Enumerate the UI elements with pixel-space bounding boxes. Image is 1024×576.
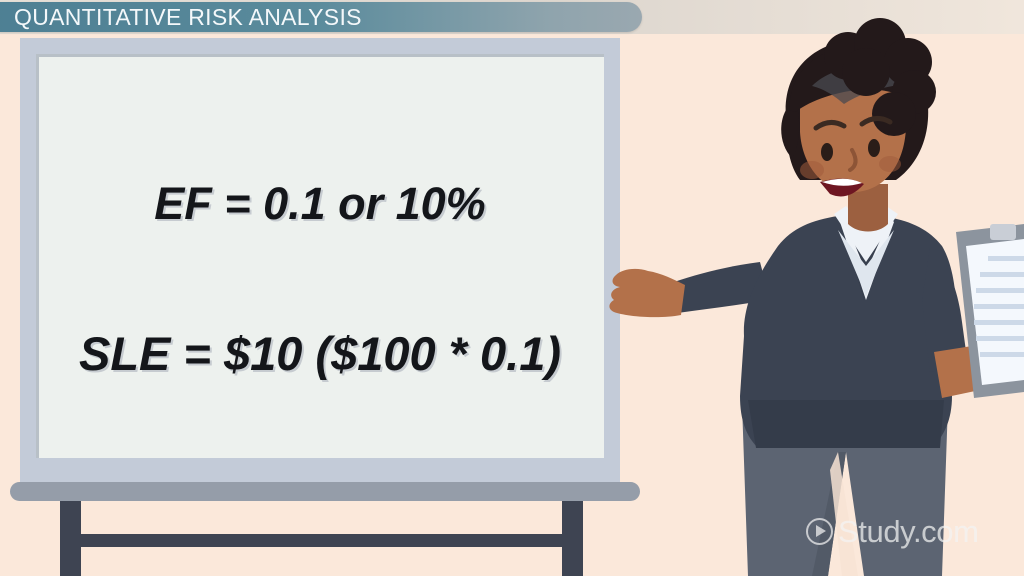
study-com-watermark: Study.com — [806, 516, 979, 547]
presenter-left-arm — [609, 262, 770, 317]
presenter-head — [781, 18, 936, 196]
watermark-label: Study.com — [838, 516, 979, 547]
presenter-illustration — [0, 0, 1024, 576]
slide-scene: QUANTITATIVE RISK ANALYSIS EF = 0.1 or 1… — [0, 0, 1024, 576]
play-circle-icon — [806, 518, 833, 545]
